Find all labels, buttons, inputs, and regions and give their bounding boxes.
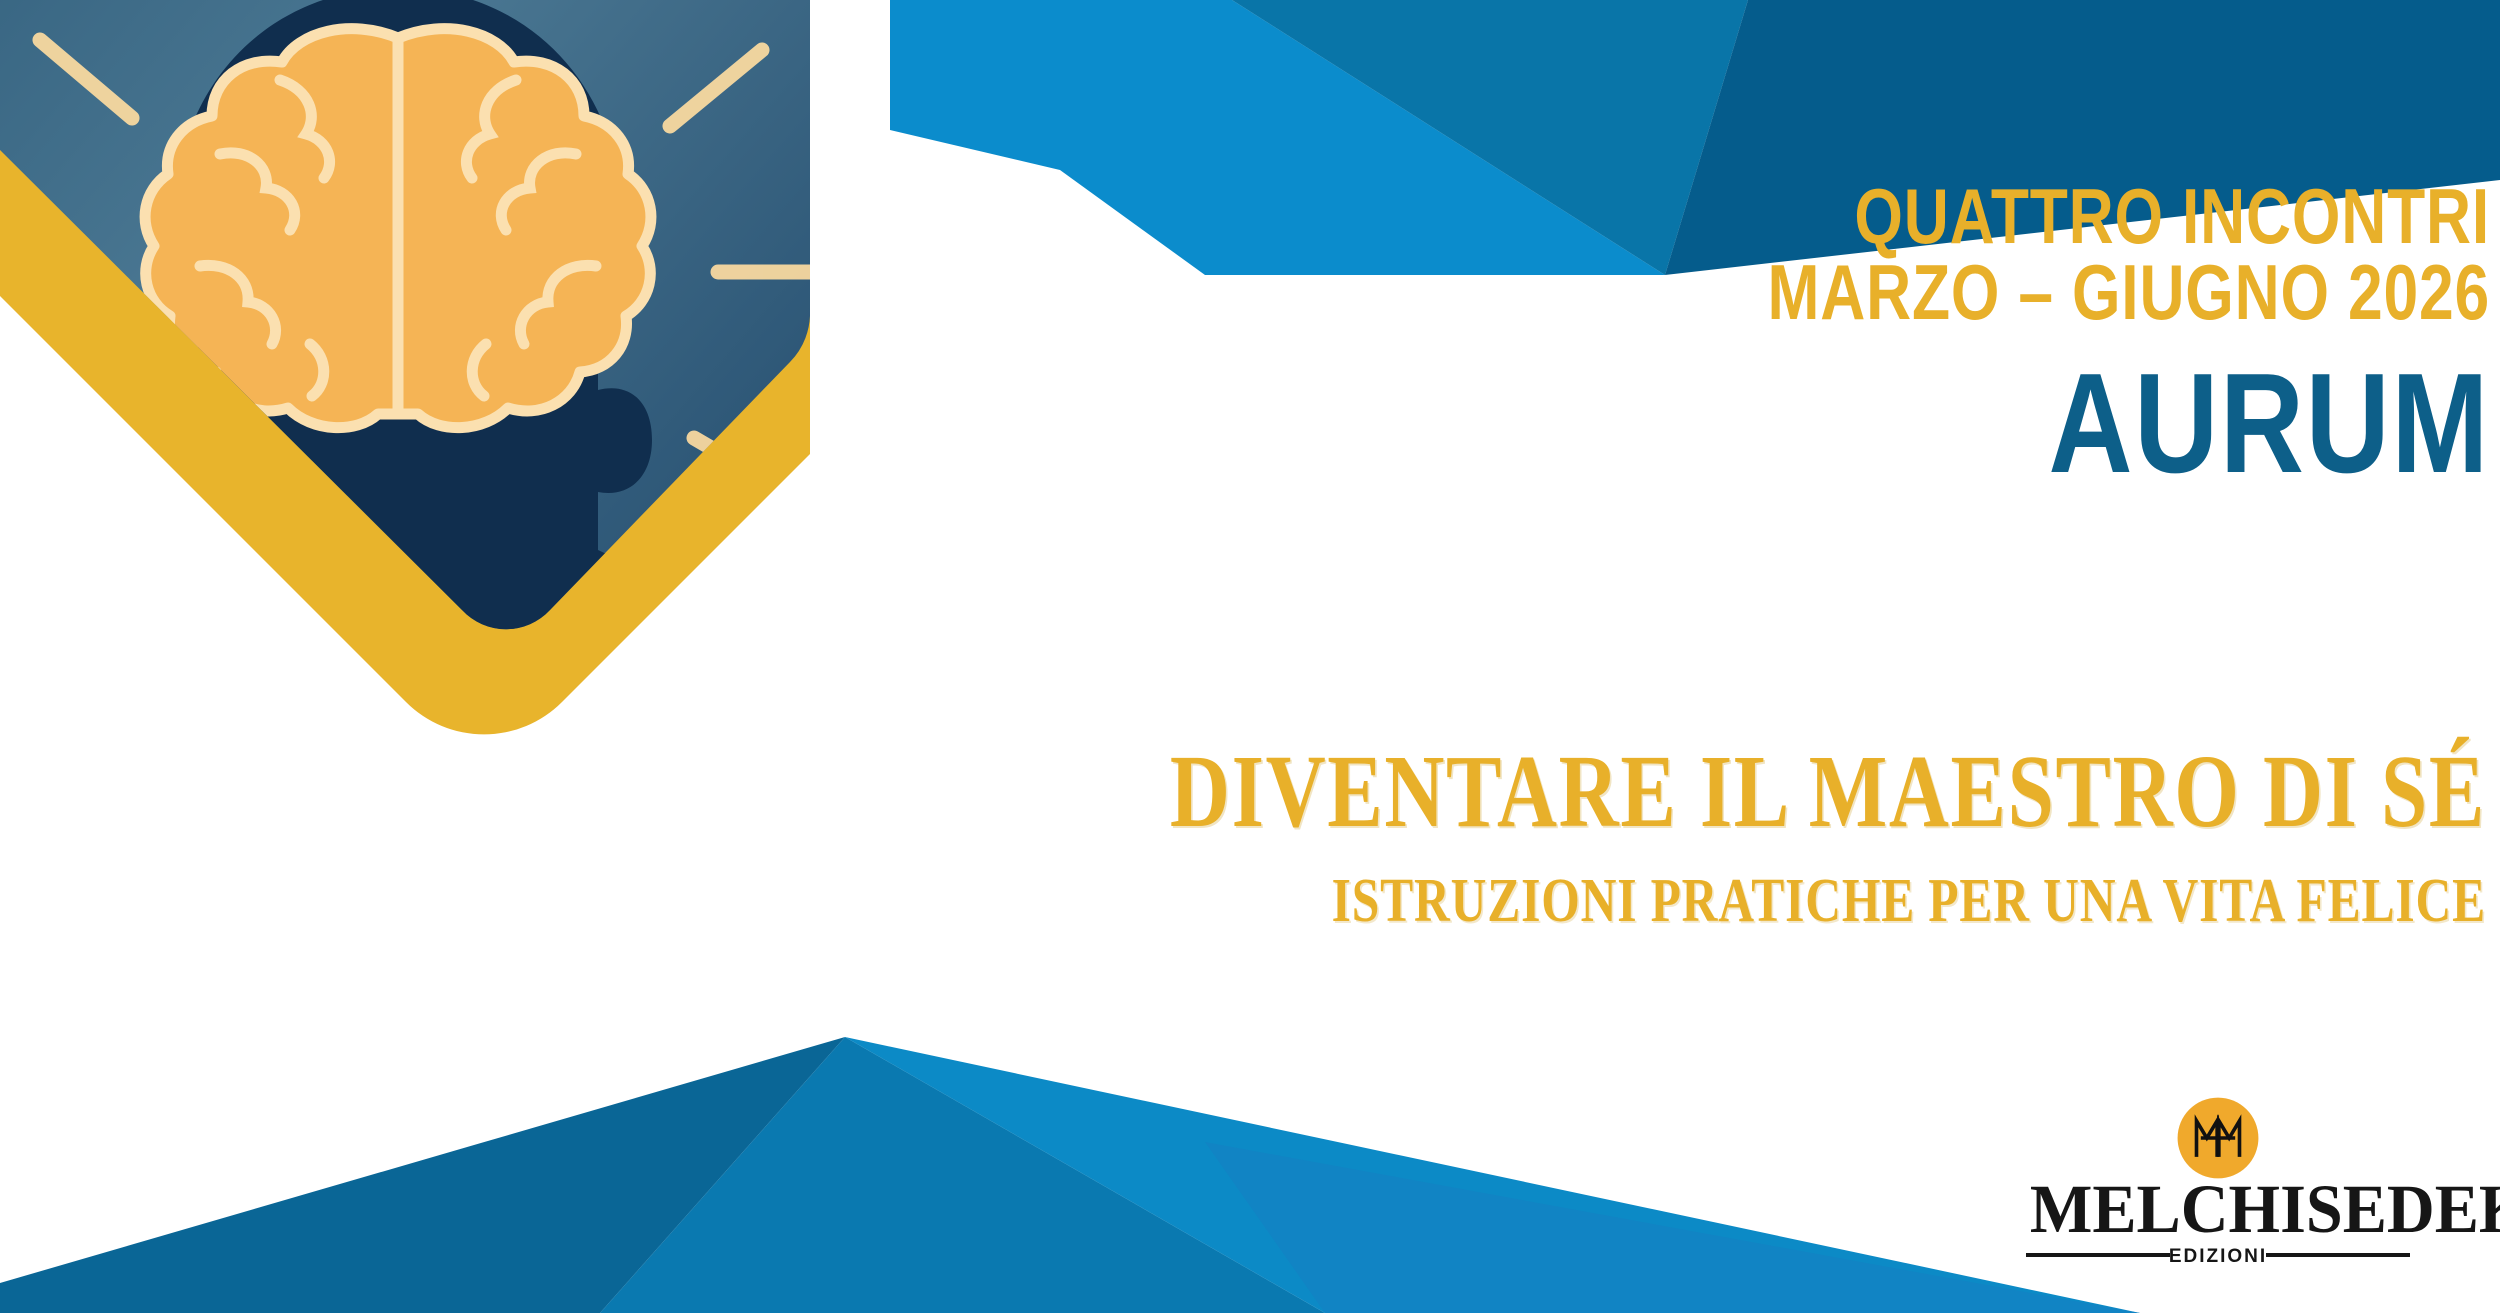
head-with-brain-illustration <box>0 0 810 810</box>
title-block: DIVENTARE IL MAESTRO DI SÉ ISTRUZIONI PR… <box>386 740 2486 932</box>
kicker-line-2: MARZO – GIUGNO 2026 <box>1290 254 2490 330</box>
logo-wordmark: MELCHISEDEK <box>2030 1175 2406 1244</box>
page-subtitle: ISTRUZIONI PRATICHE PER UNA VITA FELICE <box>806 870 2486 932</box>
logo-tagline: EDIZIONI <box>2022 1246 2414 1268</box>
page-title: DIVENTARE IL MAESTRO DI SÉ <box>806 740 2486 844</box>
brain-icon <box>145 29 651 428</box>
program-name: AURUM <box>1260 353 2490 495</box>
kicker-line-1: QUATTRO INCONTRI <box>1290 178 2490 254</box>
headline-block: QUATTRO INCONTRI MARZO – GIUGNO 2026 AUR… <box>990 178 2490 495</box>
poster-canvas: QUATTRO INCONTRI MARZO – GIUGNO 2026 AUR… <box>0 0 2500 1313</box>
publisher-logo: MELCHISEDEK EDIZIONI <box>2022 1095 2414 1280</box>
melchisedek-monogram-icon <box>2175 1095 2261 1181</box>
top-blue-shape-edge <box>890 0 1060 170</box>
logo-rule: EDIZIONI <box>2022 1246 2414 1262</box>
